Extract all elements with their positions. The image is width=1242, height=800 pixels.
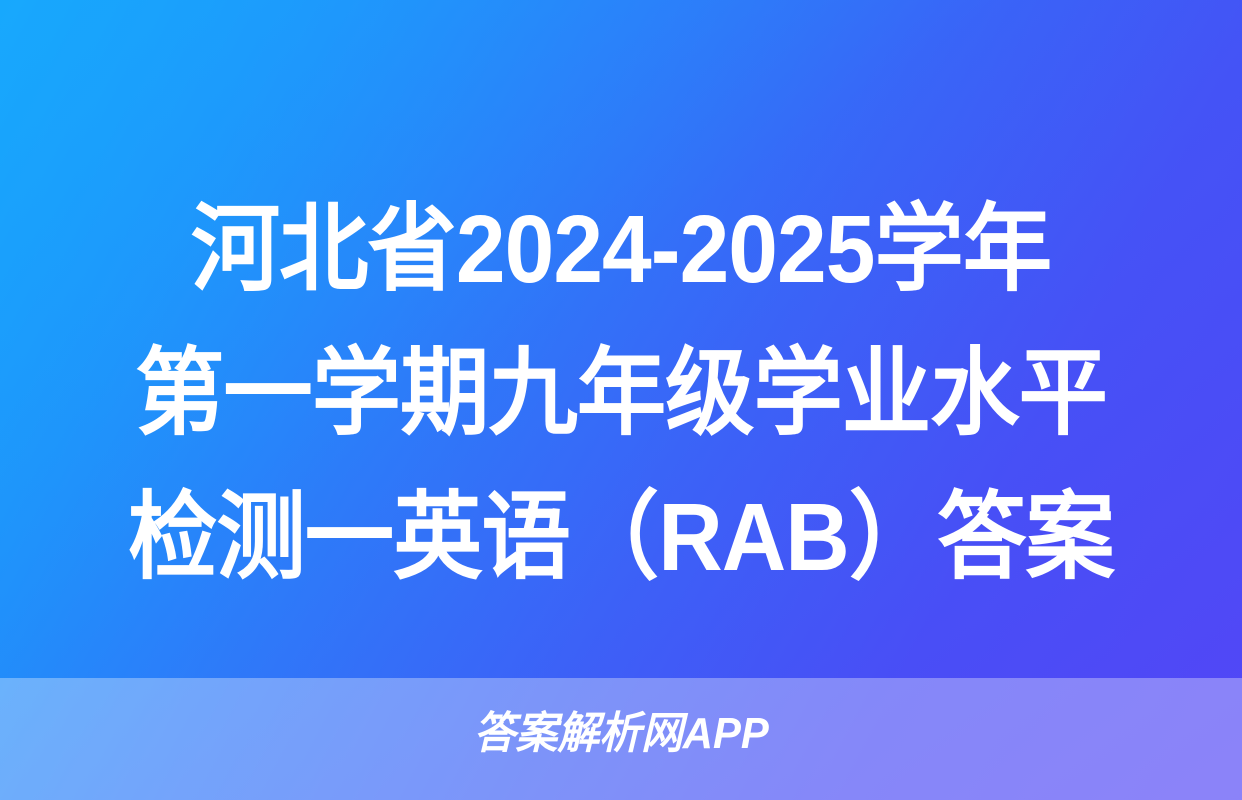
watermark-label: 答案解析网APP <box>474 706 769 762</box>
title-line-1: 河北省2024-2025学年 <box>43 178 1198 322</box>
title-line-3: 检测一英语（RAB）答案 <box>43 466 1198 610</box>
watermark: 答案解析网APP <box>0 706 1242 762</box>
exam-title-banner: 河北省2024-2025学年 第一学期九年级学业水平 检测一英语（RAB）答案 … <box>0 0 1242 800</box>
page-title: 河北省2024-2025学年 第一学期九年级学业水平 检测一英语（RAB）答案 <box>0 178 1242 610</box>
title-line-2: 第一学期九年级学业水平 <box>43 322 1198 466</box>
